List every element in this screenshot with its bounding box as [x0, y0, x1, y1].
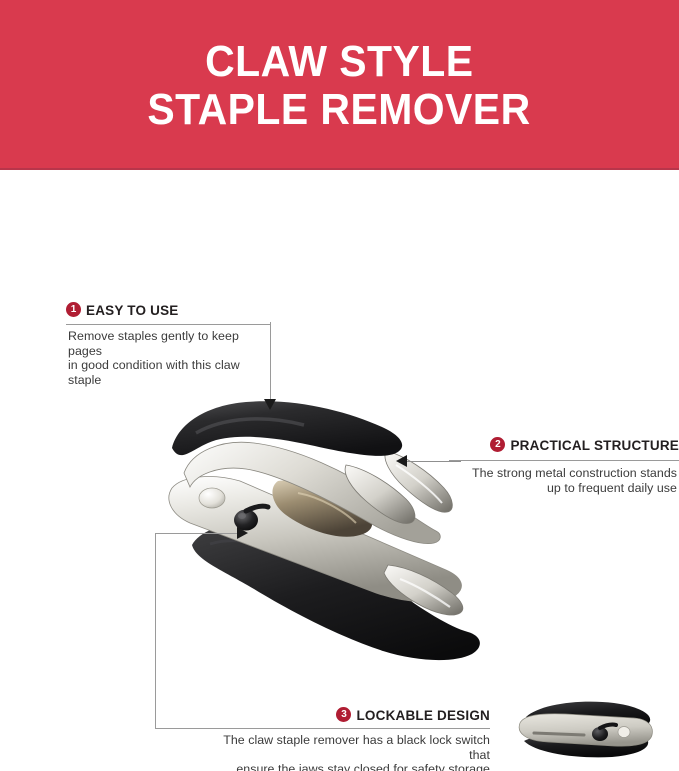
- callout-3-heading: LOCKABLE DESIGN: [356, 708, 490, 723]
- callout-3-rule: [155, 728, 490, 729]
- header-banner: CLAW STYLE STAPLE REMOVER: [0, 0, 679, 170]
- callout-2-heading: PRACTICAL STRUCTURE: [510, 438, 679, 453]
- infographic-page: CLAW STYLE STAPLE REMOVER: [0, 0, 679, 771]
- callout-lockable-design: 3 LOCKABLE DESIGN The claw staple remove…: [215, 708, 490, 723]
- callout-3-leader-line-top: [155, 533, 241, 534]
- callout-easy-to-use: 1 EASY TO USE Remove staples gently to k…: [66, 303, 281, 322]
- callout-1-rule: [66, 324, 271, 325]
- product-pivot-pin: [199, 488, 225, 508]
- thumb-pin-hole: [618, 727, 630, 738]
- product-thumbnail-locked: [510, 695, 675, 767]
- callout-2-number-badge: 2: [490, 437, 505, 452]
- callout-1-leader-arrow-down: [264, 399, 276, 410]
- callout-2-body: The strong metal construction stands up …: [449, 466, 677, 495]
- callout-1-body-line-2: in good condition with this claw staple: [68, 358, 273, 387]
- callout-3-number-badge: 3: [336, 707, 351, 722]
- callout-2-heading-row: 2 PRACTICAL STRUCTURE: [449, 438, 679, 453]
- callout-3-heading-row: 3 LOCKABLE DESIGN: [215, 708, 490, 723]
- callout-1-heading-row: 1 EASY TO USE: [66, 303, 281, 318]
- callout-1-heading: EASY TO USE: [86, 303, 178, 318]
- callout-3-body: The claw staple remover has a black lock…: [215, 733, 490, 771]
- callout-2-body-line-1: The strong metal construction stands: [449, 466, 677, 481]
- callout-1-body: Remove staples gently to keep pages in g…: [68, 329, 273, 387]
- callout-2-rule: [449, 460, 679, 461]
- page-title-line-1: CLAW STYLE: [205, 38, 473, 86]
- header-title-group: CLAW STYLE STAPLE REMOVER: [0, 0, 679, 168]
- callout-2-leader-line: [403, 461, 461, 462]
- page-title-line-2: STAPLE REMOVER: [148, 86, 531, 134]
- callout-2-leader-arrow-left: [396, 455, 407, 467]
- callout-1-leader-line: [270, 322, 271, 406]
- callout-3-body-line-1: The claw staple remover has a black lock…: [215, 733, 490, 762]
- callout-3-leader-arrow-right: [237, 527, 248, 539]
- thumb-metal-body: [519, 714, 652, 746]
- callout-practical-structure: 2 PRACTICAL STRUCTURE The strong metal c…: [449, 438, 679, 457]
- thumb-slot: [534, 733, 584, 735]
- callout-3-body-line-2: ensure the jaws stay closed for safety s…: [215, 762, 490, 771]
- callout-1-body-line-1: Remove staples gently to keep pages: [68, 329, 273, 358]
- callout-3-leader-line-vertical: [155, 533, 156, 729]
- callout-1-number-badge: 1: [66, 302, 81, 317]
- product-hero-image: [150, 355, 510, 665]
- callout-2-body-line-2: up to frequent daily use: [449, 481, 677, 496]
